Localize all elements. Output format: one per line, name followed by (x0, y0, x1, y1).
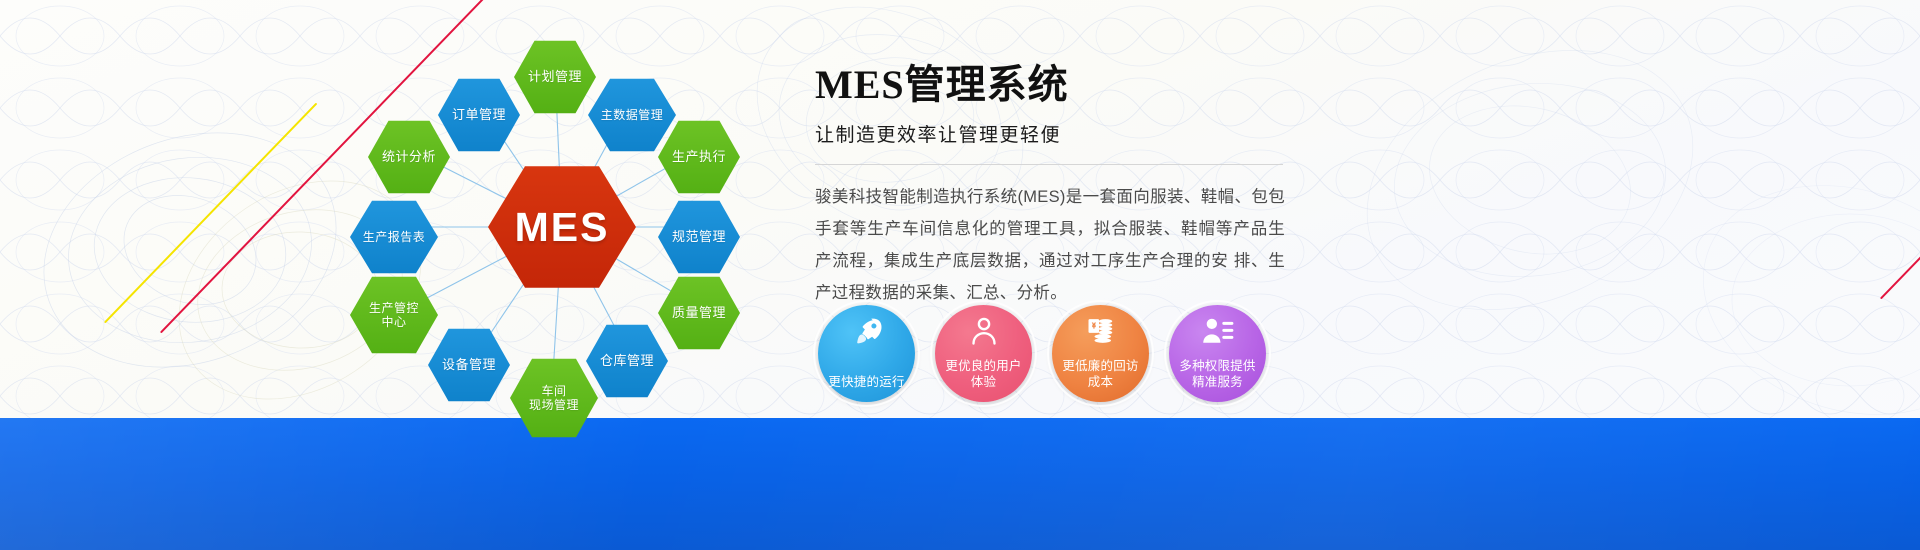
bottom-blue-band (0, 418, 1920, 550)
page-subtitle: 让制造更效率让管理更轻便 (815, 120, 1285, 147)
description-paragraph: 骏美科技智能制造执行系统(MES)是一套面向服装、鞋帽、包包手套等生产车间信息化… (815, 181, 1285, 309)
divider (815, 164, 1283, 165)
badge-experience[interactable]: 更优良的用户 体验 (935, 305, 1032, 402)
feature-badge-list: 更快捷的运行 更优良的用户 体验 (818, 305, 1266, 402)
user-icon (935, 316, 1032, 346)
badge-label: 多种权限提供 精准服务 (1179, 358, 1255, 390)
badge-label: 更低廉的回访 成本 (1062, 358, 1138, 390)
badge-speed[interactable]: 更快捷的运行 (818, 305, 915, 402)
badge-label: 更快捷的运行 (828, 374, 904, 390)
accent-slash-red-2 (1880, 204, 1920, 299)
rocket-icon (818, 316, 915, 346)
coins-icon (1052, 316, 1149, 346)
accent-slash-yellow (104, 103, 317, 324)
badge-permission[interactable]: 多种权限提供 精准服务 (1169, 305, 1266, 402)
mes-hexagon-diagram: MES 计划管理 订单管理 主数据管理 统计分析 生产执行 生产报告表 规范管理… (330, 20, 800, 440)
badge-cost[interactable]: 更低廉的回访 成本 (1052, 305, 1149, 402)
banner-text-column: MES管理系统 让制造更效率让管理更轻便 骏美科技智能制造执行系统(MES)是一… (815, 52, 1285, 309)
roles-icon (1169, 316, 1266, 346)
badge-label: 更优良的用户 体验 (945, 358, 1021, 390)
page-title: MES管理系统 (815, 52, 1285, 110)
mes-banner: MES 计划管理 订单管理 主数据管理 统计分析 生产执行 生产报告表 规范管理… (0, 0, 1920, 550)
